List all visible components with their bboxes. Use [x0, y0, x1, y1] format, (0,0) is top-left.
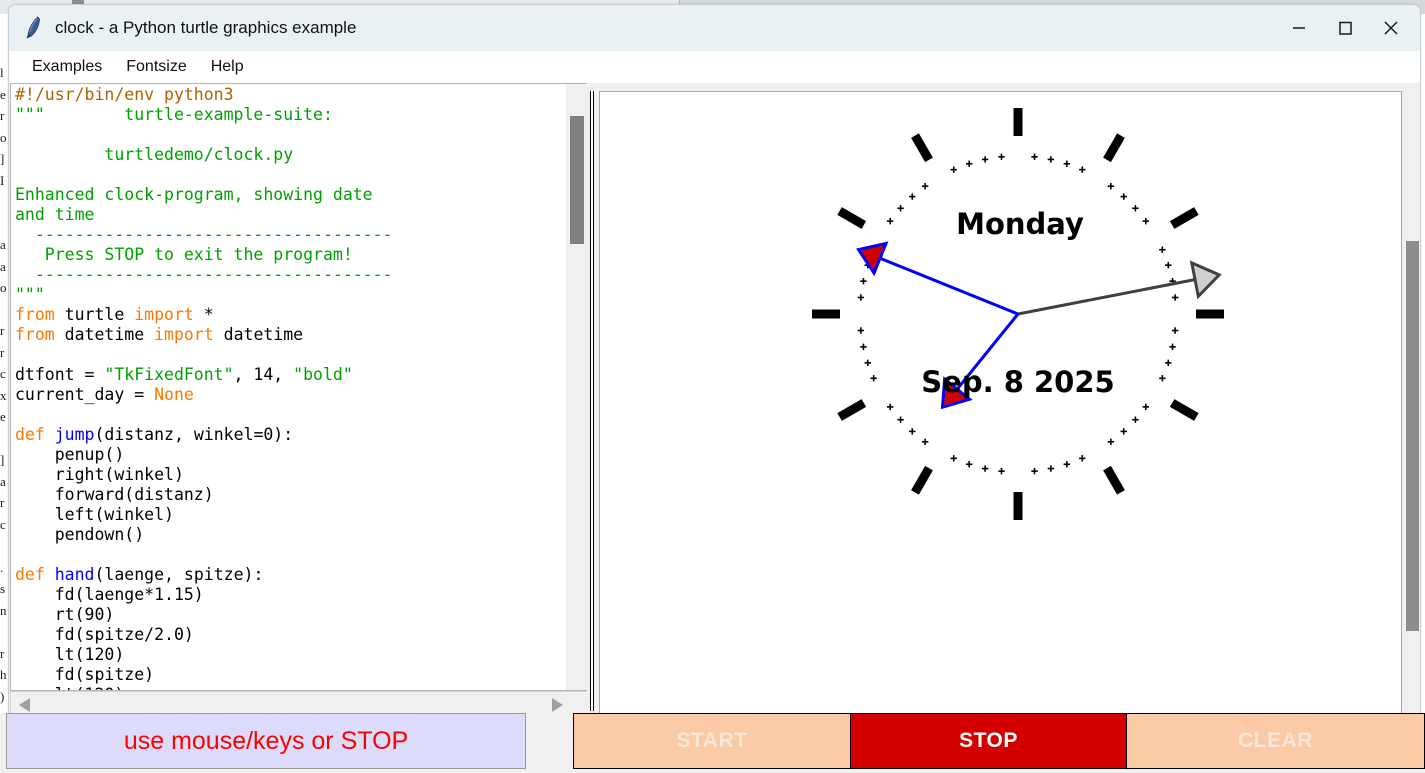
scroll-right-arrow-icon[interactable]: [552, 698, 563, 712]
pane-sash-handle[interactable]: [590, 91, 594, 711]
demo-buttons: START STOP CLEAR: [573, 713, 1425, 773]
clear-button[interactable]: CLEAR: [1127, 713, 1425, 769]
python-feather-icon: [23, 15, 45, 41]
clock-date-label: Sep. 8 2025: [921, 365, 1114, 399]
window-titlebar: clock - a Python turtle graphics example: [9, 5, 1420, 51]
minimize-icon[interactable]: [1276, 5, 1322, 51]
turtledemo-window: clock - a Python turtle graphics example: [8, 4, 1421, 719]
close-icon[interactable]: [1368, 5, 1414, 51]
window-controls: [1276, 5, 1414, 51]
turtle-canvas[interactable]: Monday Sep. 8 2025: [599, 91, 1402, 719]
pane-sash[interactable]: [587, 83, 597, 719]
canvas-vertical-scrollbar[interactable]: [1403, 91, 1421, 719]
bottom-bar: use mouse/keys or STOP START STOP CLEAR: [0, 713, 1425, 773]
menu-help[interactable]: Help: [200, 55, 255, 79]
window-body: #!/usr/bin/env python3 """ turtle-exampl…: [9, 83, 1421, 719]
clock-weekday-label: Monday: [956, 207, 1084, 241]
start-button[interactable]: START: [573, 713, 850, 769]
source-code-pane[interactable]: #!/usr/bin/env python3 """ turtle-exampl…: [10, 83, 566, 691]
clock-drawing: Monday Sep. 8 2025: [600, 92, 1401, 719]
canvas-vertical-scrollbar-thumb[interactable]: [1406, 241, 1419, 631]
window-title: clock - a Python turtle graphics example: [55, 18, 356, 38]
code-vertical-scrollbar-thumb[interactable]: [570, 116, 584, 244]
menubar: Examples Fontsize Help: [9, 51, 1420, 83]
menu-examples[interactable]: Examples: [21, 55, 113, 79]
menu-fontsize[interactable]: Fontsize: [115, 55, 197, 79]
stop-button[interactable]: STOP: [850, 713, 1127, 769]
status-message: use mouse/keys or STOP: [6, 713, 526, 769]
scroll-left-arrow-icon[interactable]: [19, 698, 30, 712]
maximize-icon[interactable]: [1322, 5, 1368, 51]
source-code-text: #!/usr/bin/env python3 """ turtle-exampl…: [15, 85, 393, 691]
